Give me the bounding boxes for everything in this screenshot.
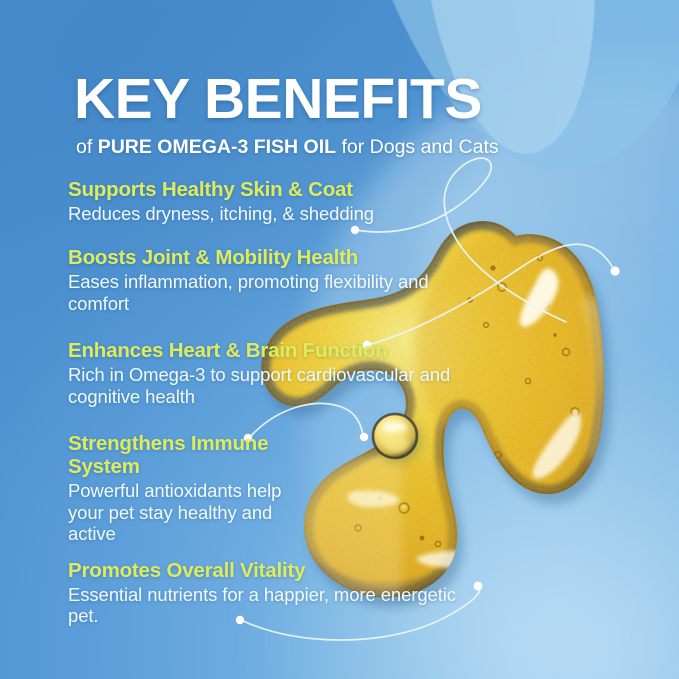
- benefit-item-overall-vitality: Promotes Overall Vitality Essential nutr…: [68, 559, 488, 627]
- benefit-item-joint-mobility: Boosts Joint & Mobility Health Eases inf…: [68, 246, 488, 314]
- page-subtitle: of PURE OMEGA-3 FISH OIL for Dogs and Ca…: [76, 136, 499, 159]
- benefits-list: Supports Healthy Skin & Coat Reduces dry…: [68, 178, 488, 643]
- benefit-desc: Powerful antioxidants help your pet stay…: [68, 480, 318, 545]
- benefit-title: Enhances Heart & Brain Function: [68, 339, 488, 363]
- benefit-title: Strengthens Immune System: [68, 432, 318, 480]
- page-title: KEY BENEFITS: [74, 72, 482, 127]
- benefit-desc: Eases inflammation, promoting flexibilit…: [68, 271, 488, 314]
- benefit-desc: Reduces dryness, itching, & shedding: [68, 203, 488, 225]
- benefit-item-skin-coat: Supports Healthy Skin & Coat Reduces dry…: [68, 178, 488, 224]
- benefit-title: Supports Healthy Skin & Coat: [68, 178, 488, 202]
- benefit-desc: Essential nutrients for a happier, more …: [68, 584, 488, 627]
- content-layer: KEY BENEFITS of PURE OMEGA-3 FISH OIL fo…: [0, 0, 679, 679]
- benefit-desc: Rich in Omega-3 to support cardiovascula…: [68, 364, 488, 407]
- subtitle-prefix: of: [76, 136, 98, 158]
- subtitle-suffix: for Dogs and Cats: [336, 136, 499, 158]
- benefit-item-heart-brain: Enhances Heart & Brain Function Rich in …: [68, 339, 488, 407]
- benefit-title: Promotes Overall Vitality: [68, 559, 488, 583]
- benefit-item-immune-system: Strengthens Immune System Powerful antio…: [68, 432, 488, 545]
- subtitle-product: PURE OMEGA-3 FISH OIL: [98, 136, 336, 158]
- benefit-title: Boosts Joint & Mobility Health: [68, 246, 488, 270]
